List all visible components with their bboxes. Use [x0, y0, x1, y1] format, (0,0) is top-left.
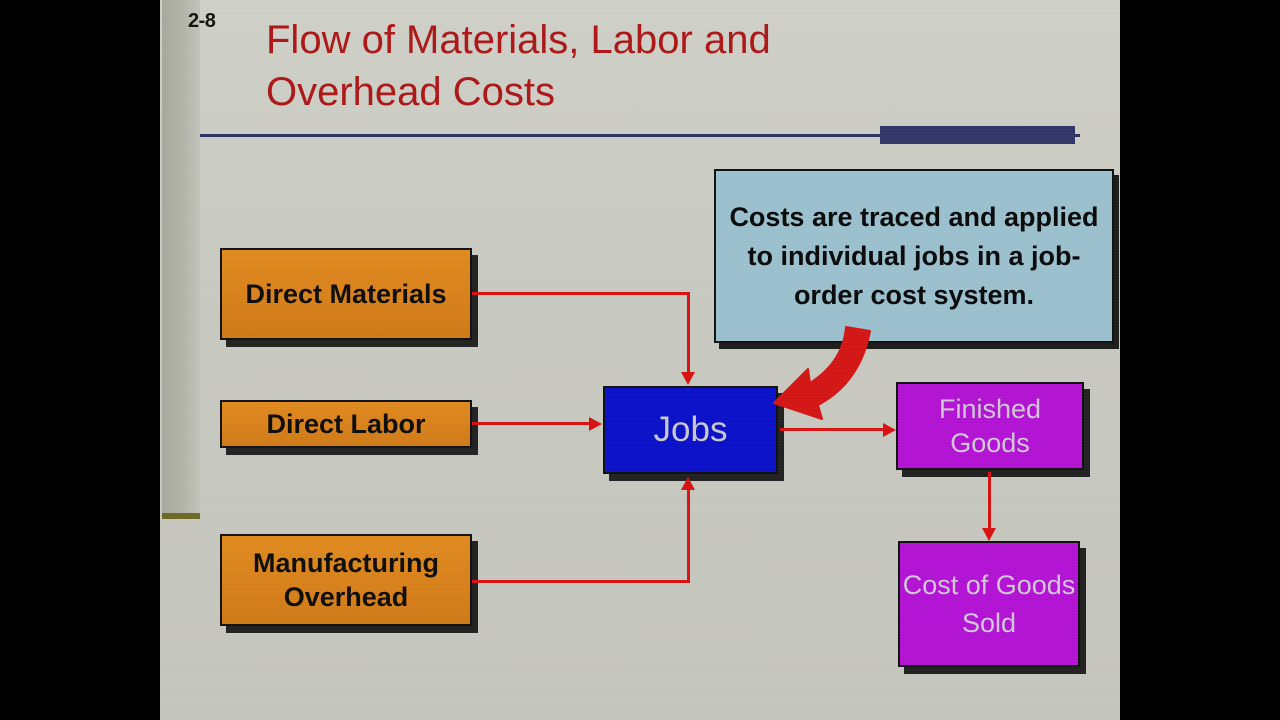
title-accent-block [880, 126, 1075, 144]
arrowhead-finished-goods-to-cogs [982, 528, 996, 541]
screen: 2-8 Flow of Materials, Labor and Overhea… [0, 0, 1280, 720]
callout-text: Costs are traced and applied to individu… [726, 198, 1102, 315]
node-manufacturing-overhead-label: Manufacturing Overhead [222, 546, 470, 614]
connector-manufacturing-overhead-vertical [687, 490, 690, 583]
connector-direct-materials-horizontal [472, 292, 690, 295]
arrowhead-direct-labor-to-jobs [589, 417, 602, 431]
connector-jobs-to-finished-goods [780, 428, 884, 431]
callout-box: Costs are traced and applied to individu… [714, 169, 1114, 343]
connector-manufacturing-overhead-horizontal [472, 580, 690, 583]
node-cost-of-goods-sold: Cost of Goods Sold [898, 541, 1080, 667]
left-band-accent-line [162, 513, 200, 519]
node-direct-materials: Direct Materials [220, 248, 472, 340]
node-cost-of-goods-sold-label: Cost of Goods Sold [900, 566, 1078, 642]
arrowhead-jobs-to-finished-goods [883, 423, 896, 437]
node-manufacturing-overhead: Manufacturing Overhead [220, 534, 472, 626]
node-direct-materials-label: Direct Materials [222, 278, 470, 311]
arrowhead-direct-materials-to-jobs [681, 372, 695, 385]
node-finished-goods-label: Finished Goods [898, 392, 1082, 460]
node-jobs: Jobs [603, 386, 778, 474]
node-finished-goods: Finished Goods [896, 382, 1084, 470]
connector-direct-labor-horizontal [472, 422, 590, 425]
node-direct-labor: Direct Labor [220, 400, 472, 448]
connector-direct-materials-vertical [687, 292, 690, 372]
page-title: Flow of Materials, Labor and Overhead Co… [266, 14, 926, 118]
left-decorative-band [162, 0, 200, 515]
node-direct-labor-label: Direct Labor [222, 408, 470, 440]
connector-finished-goods-to-cogs [988, 472, 991, 529]
slide-canvas: 2-8 Flow of Materials, Labor and Overhea… [160, 0, 1120, 720]
arrowhead-manufacturing-overhead-to-jobs [681, 477, 695, 490]
node-jobs-label: Jobs [605, 410, 776, 450]
slide-number: 2-8 [188, 10, 215, 33]
